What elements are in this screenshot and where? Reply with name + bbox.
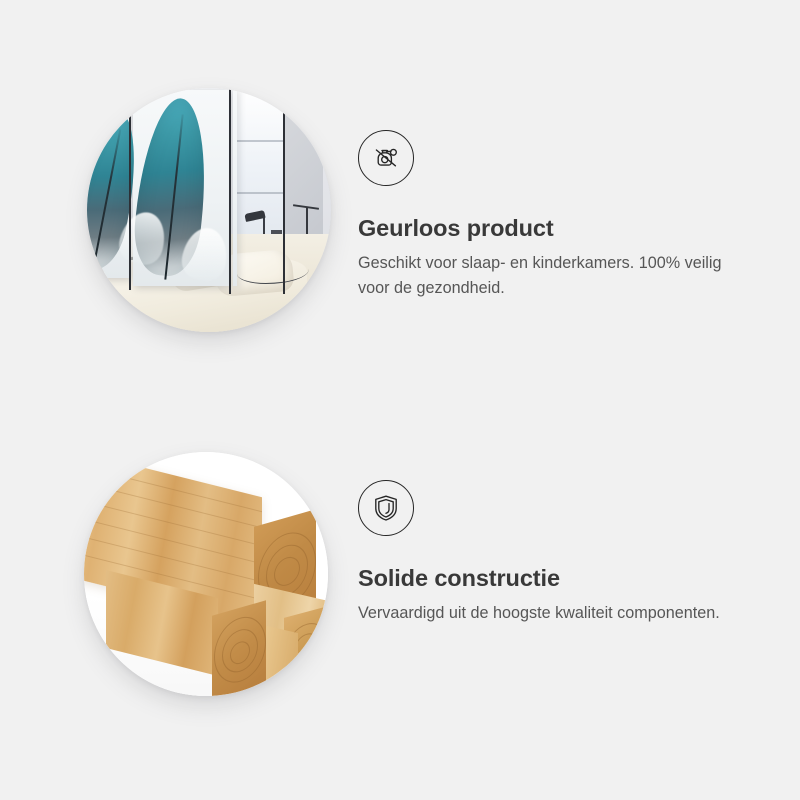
feature-list: Geurloos product Geschikt voor slaap- en… — [0, 0, 800, 800]
art-panel-right — [233, 88, 237, 286]
feature-block-solide-constructie: Solide constructie Vervaardigd uit de ho… — [0, 448, 800, 748]
product-image-teal-feather-wall-art — [87, 88, 331, 332]
feature-title: Geurloos product — [358, 215, 758, 242]
feature-description: Geschikt voor slaap- en kinderkamers. 10… — [358, 251, 750, 300]
bedroom-scene — [87, 88, 331, 332]
no-fragrance-icon — [358, 130, 414, 186]
feature-title: Solide constructie — [358, 565, 758, 592]
feature-info: Solide constructie Vervaardigd uit de ho… — [358, 480, 758, 626]
wood-beam-front-endgrain — [212, 600, 266, 696]
panel-divider-3 — [283, 88, 285, 294]
feature-description: Vervaardigd uit de hoogste kwaliteit com… — [358, 601, 750, 626]
product-image-pine-wood-blocks — [84, 452, 328, 696]
feature-block-geurloos-product: Geurloos product Geschikt voor slaap- en… — [0, 78, 800, 378]
shield-icon — [358, 480, 414, 536]
panel-divider-2 — [229, 88, 231, 294]
panel-divider-1 — [129, 98, 131, 290]
wood-blocks-scene — [84, 452, 328, 696]
feature-info: Geurloos product Geschikt voor slaap- en… — [358, 130, 758, 300]
